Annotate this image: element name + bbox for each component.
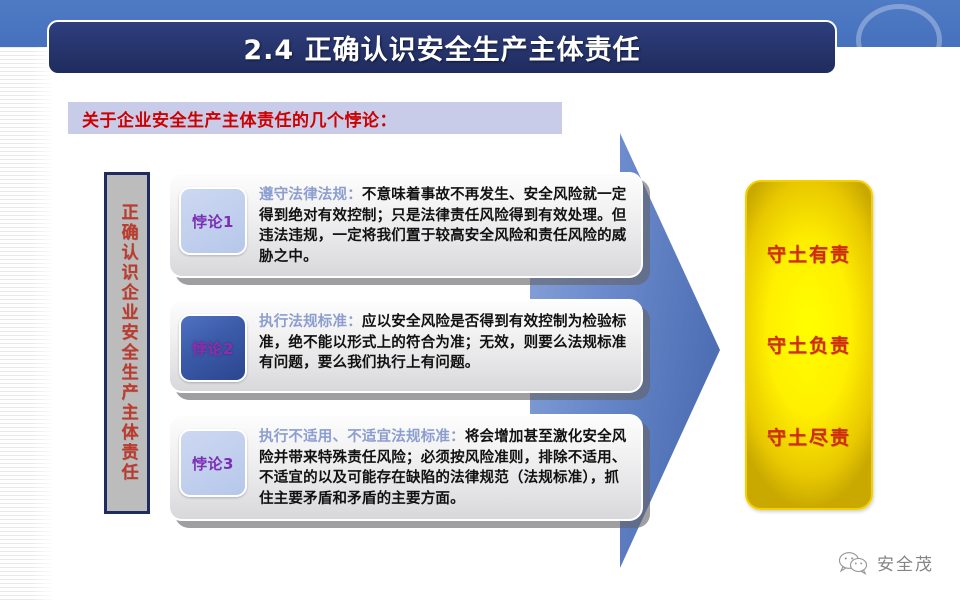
conclusion-box: 守土有责 守土负责 守土尽责 — [745, 180, 873, 510]
paradox-badge-label-3: 悖论3 — [192, 453, 234, 474]
paradox-badge-label-2: 悖论2 — [192, 338, 234, 359]
conclusion-line-1: 守土有责 — [767, 240, 851, 267]
paradox-badge-3: 悖论3 — [179, 429, 247, 497]
paradox-head-3: 执行不适用、不适宜法规标准： — [259, 429, 465, 445]
paradox-card-list: 悖论1 遵守法律法规：不意味着事故不再发生、安全风险就一定得到绝对有效控制；只是… — [168, 172, 643, 517]
vertical-title-text: 正确认识企业安全生产主体责任 — [119, 203, 136, 483]
watermark-label: 安全茂 — [877, 550, 934, 575]
subtitle-text: 关于企业安全生产主体责任的几个悖论： — [68, 106, 397, 131]
paradox-head-1: 遵守法律法规： — [259, 187, 362, 203]
paradox-body-2: 执行法规标准：应以安全风险是否得到有效控制为检验标准，绝不能以形式上的符合为准；… — [247, 310, 631, 374]
paradox-card-1[interactable]: 悖论1 遵守法律法规：不意味着事故不再发生、安全风险就一定得到绝对有效控制；只是… — [168, 172, 643, 278]
paradox-body-3: 执行不适用、不适宜法规标准：将会增加甚至激化安全风险并带来特殊责任风险；必须按风… — [247, 425, 631, 509]
slide-canvas: 2.4 正确认识安全生产主体责任 关于企业安全生产主体责任的几个悖论： 正确认识… — [0, 0, 960, 601]
paradox-head-2: 执行法规标准： — [259, 314, 362, 330]
paradox-badge-2: 悖论2 — [179, 314, 247, 382]
conclusion-line-3: 守土尽责 — [767, 423, 851, 450]
paradox-card-2[interactable]: 悖论2 执行法规标准：应以安全风险是否得到有效控制为检验标准，绝不能以形式上的符… — [168, 299, 643, 393]
paradox-body-1: 遵守法律法规：不意味着事故不再发生、安全风险就一定得到绝对有效控制；只是法律责任… — [247, 183, 631, 267]
slide-title-bar: 2.4 正确认识安全生产主体责任 — [47, 20, 837, 75]
paradox-badge-1: 悖论1 — [179, 187, 247, 255]
vertical-title-box: 正确认识企业安全生产主体责任 — [104, 172, 150, 514]
arc-decoration-mask — [834, 47, 954, 87]
left-stripe-fade — [0, 47, 52, 601]
conclusion-line-2: 守土负责 — [767, 331, 851, 358]
paradox-card-3[interactable]: 悖论3 执行不适用、不适宜法规标准：将会增加甚至激化安全风险并带来特殊责任风险；… — [168, 414, 643, 520]
wechat-icon — [838, 551, 868, 575]
paradox-badge-label-1: 悖论1 — [192, 211, 234, 232]
page-title: 2.4 正确认识安全生产主体责任 — [243, 28, 640, 67]
watermark: 安全茂 — [838, 550, 934, 575]
subtitle-banner: 关于企业安全生产主体责任的几个悖论： — [68, 102, 562, 134]
